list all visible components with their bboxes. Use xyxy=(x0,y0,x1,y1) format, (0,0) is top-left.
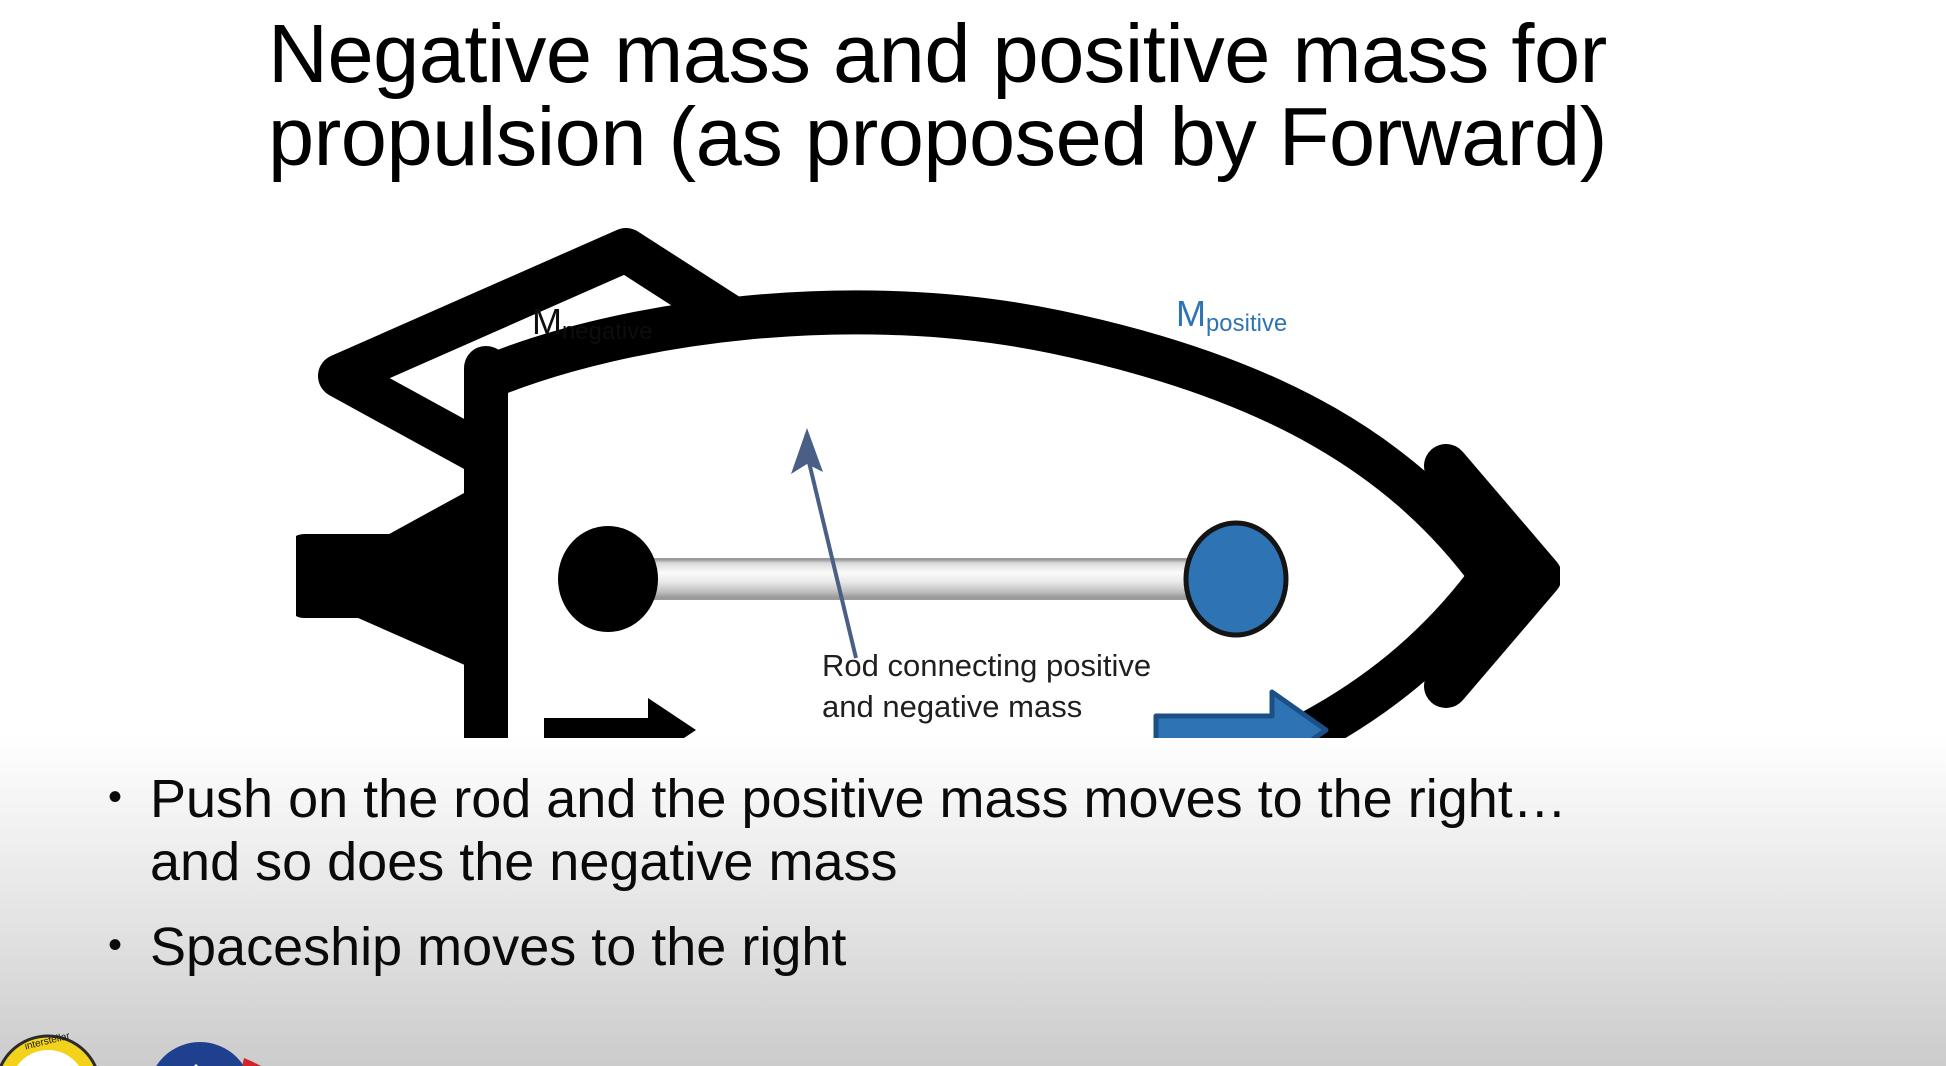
positive-mass-circle xyxy=(1186,523,1286,635)
interstellar-seal-logo: interstellar xyxy=(0,1030,100,1066)
positive-mass-label: Mpositive xyxy=(1176,296,1287,336)
connecting-rod xyxy=(596,559,1236,599)
bullet-marker-icon: • xyxy=(108,768,150,826)
bullet-text: Spaceship moves to the right xyxy=(150,916,1908,979)
negative-mass-label-base: M xyxy=(532,301,562,342)
positive-mass-label-base: M xyxy=(1176,293,1206,334)
list-item: • Push on the rod and the positive mass … xyxy=(108,768,1908,894)
page-title: Negative mass and positive mass for prop… xyxy=(268,12,1768,178)
negative-mass-circle xyxy=(558,526,658,632)
footer-logos: interstellar xyxy=(0,1016,420,1066)
nasa-meatball-logo xyxy=(148,1042,300,1066)
bullet-list: • Push on the rod and the positive mass … xyxy=(108,768,1908,1002)
bullet-marker-icon: • xyxy=(108,916,150,974)
list-item: • Spaceship moves to the right xyxy=(108,916,1908,979)
rod-callout-text: Rod connecting positive and negative mas… xyxy=(822,645,1151,727)
positive-mass-label-subscript: positive xyxy=(1206,310,1287,337)
bullet-text: Push on the rod and the positive mass mo… xyxy=(150,768,1908,894)
negative-mass-label: Mnegative xyxy=(532,304,653,344)
negative-mass-label-subscript: negative xyxy=(562,318,653,345)
presentation-slide: Negative mass and positive mass for prop… xyxy=(0,0,1946,1066)
